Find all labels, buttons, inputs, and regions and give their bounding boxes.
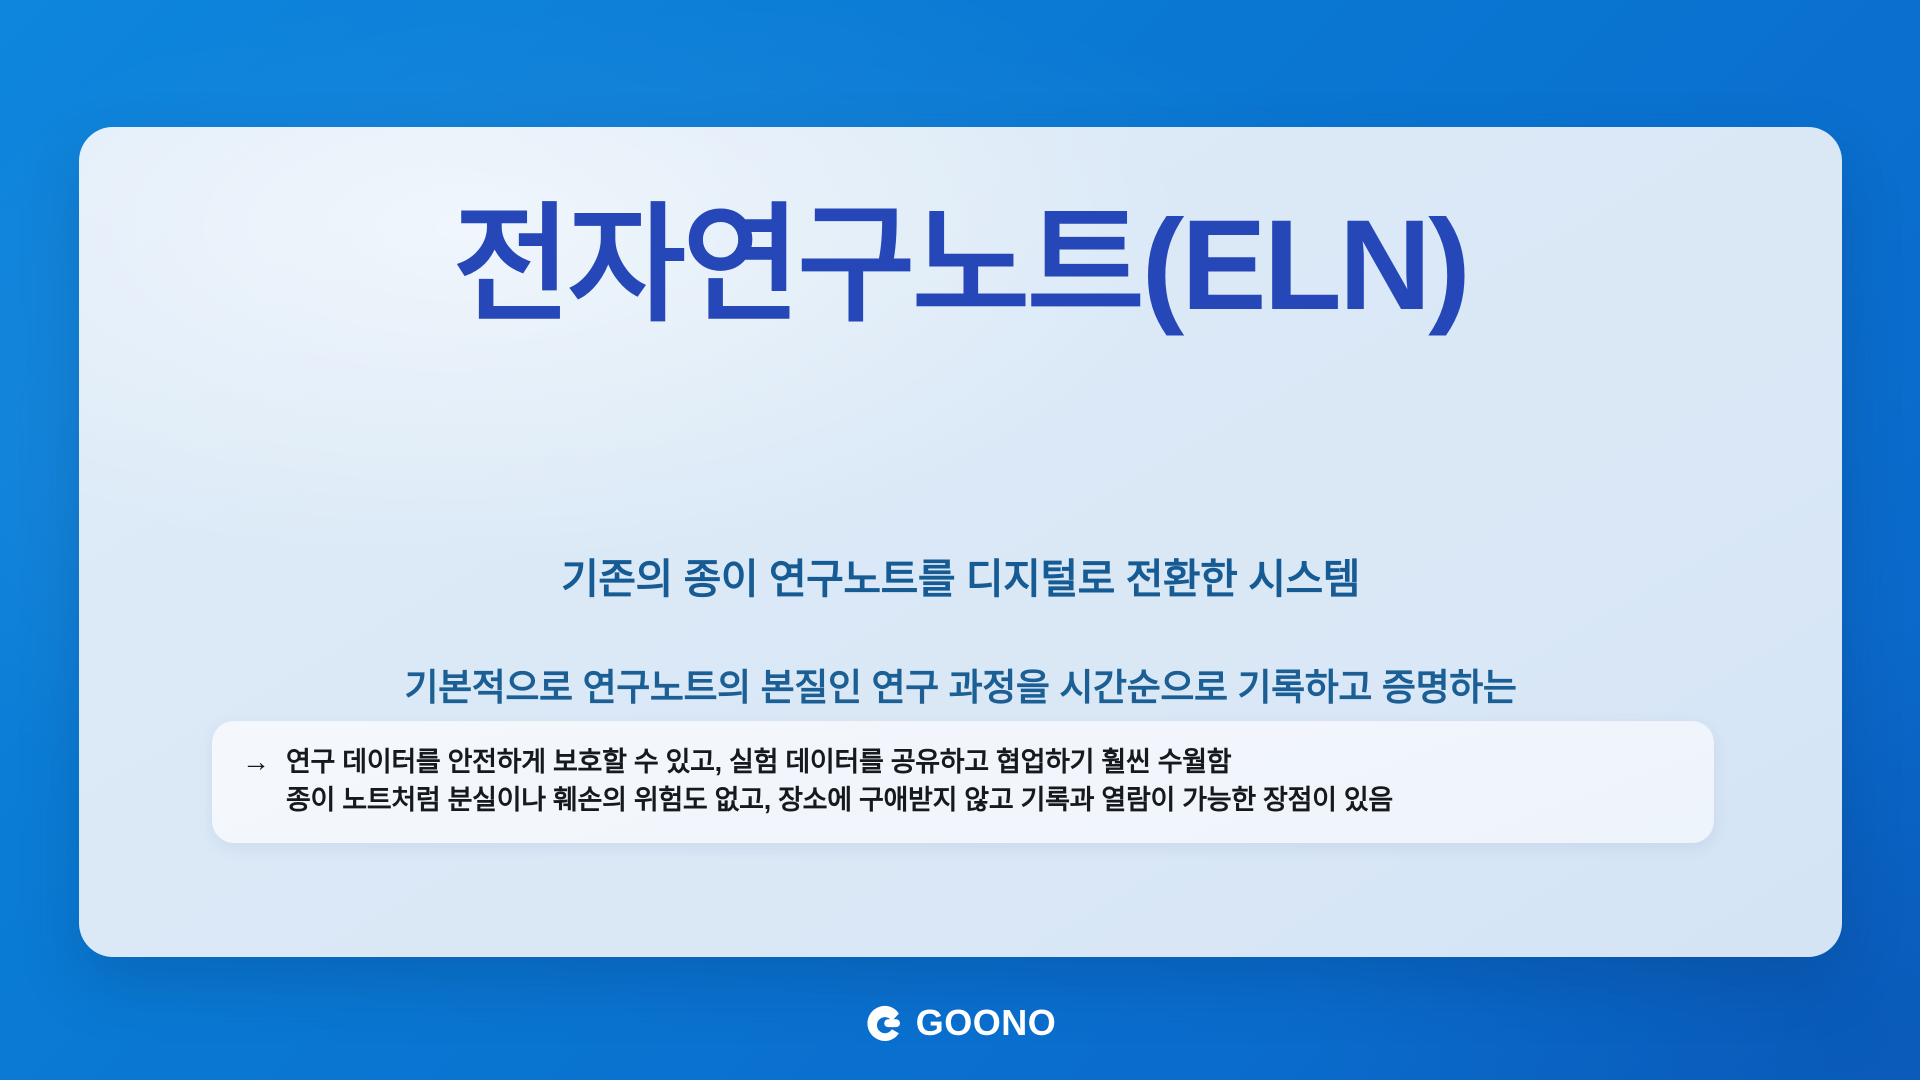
content-card: 전자연구노트(ELN) 기존의 종이 연구노트를 디지털로 전환한 시스템 기본…	[79, 127, 1842, 957]
goono-logo-text: GOONO	[916, 1002, 1057, 1044]
callout-lines: 연구 데이터를 안전하게 보호할 수 있고, 실험 데이터를 공유하고 협업하기…	[286, 743, 1393, 819]
goono-c-mark-icon	[864, 1002, 906, 1044]
arrow-right-icon: →	[242, 743, 270, 781]
page-title: 전자연구노트(ELN)	[79, 197, 1842, 335]
body-line-1: 기본적으로 연구노트의 본질인 연구 과정을 시간순으로 기록하고 증명하는	[79, 661, 1842, 715]
callout-line-1: 연구 데이터를 안전하게 보호할 수 있고, 실험 데이터를 공유하고 협업하기…	[286, 743, 1393, 781]
callout-box: → 연구 데이터를 안전하게 보호할 수 있고, 실험 데이터를 공유하고 협업…	[212, 721, 1714, 843]
callout-line-2: 종이 노트처럼 분실이나 훼손의 위험도 없고, 장소에 구애받지 않고 기록과…	[286, 781, 1393, 819]
footer-branding: GOONO	[0, 1002, 1920, 1044]
page-subtitle: 기존의 종이 연구노트를 디지털로 전환한 시스템	[79, 545, 1842, 605]
card-inner: 전자연구노트(ELN) 기존의 종이 연구노트를 디지털로 전환한 시스템 기본…	[79, 127, 1842, 957]
